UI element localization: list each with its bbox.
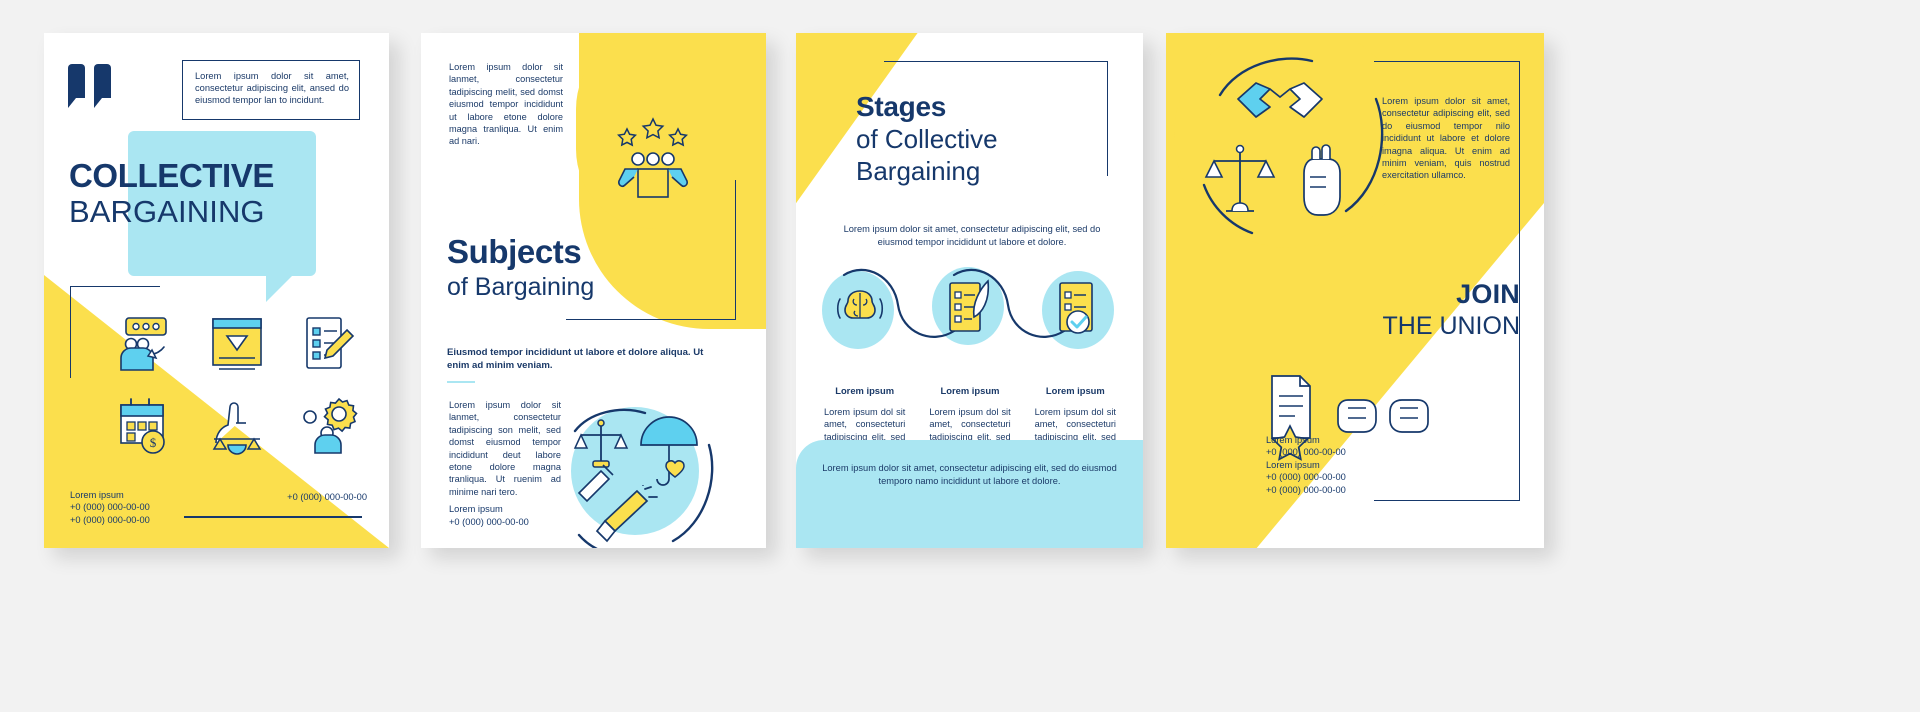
svg-text:$: $ [150, 435, 157, 450]
contact-label-2: Lorem ipsum [1266, 459, 1346, 472]
calendar-money-icon: $ [102, 386, 191, 465]
contact-label: Lorem ipsum [449, 503, 529, 516]
scales-of-justice-icon [1204, 141, 1276, 223]
title-line-2: of Collective [856, 123, 998, 155]
title-line-1: COLLECTIVE [69, 158, 369, 194]
contact-phone-1: +0 (000) 000-00-00 [449, 516, 529, 529]
gear-worker-icon [283, 386, 372, 465]
document-checkmark-icon [1052, 279, 1106, 339]
subheading: Eiusmod tempor incididunt ut labore et d… [447, 347, 719, 373]
body-paragraph: Lorem ipsum dolor sit lanmet, consectetu… [449, 399, 561, 498]
intro-paragraph: Lorem ipsum dolor sit lanmet, consectetu… [449, 61, 563, 148]
raised-fist-icon [1292, 143, 1350, 223]
lead-paragraph: Lorem ipsum dolor sit amet, consectetur … [829, 223, 1115, 248]
page-title: COLLECTIVE BARGAINING [69, 158, 369, 230]
contract-document-icon [193, 305, 282, 384]
contact-phone-2: +0 (000) 000-00-00 [70, 514, 150, 527]
steps-illustration [814, 265, 1126, 355]
hand-scales-icon [193, 386, 282, 465]
contact-phone-2: +0 (000) 000-00-00 [1266, 471, 1346, 484]
join-union-page[interactable]: Lorem ipsum dolor sit amet, consectetur … [1166, 33, 1544, 548]
meeting-people-icon [102, 305, 191, 384]
title-line-2: of Bargaining [447, 271, 594, 303]
document-feather-pen-icon [942, 279, 996, 339]
contact-label-1: Lorem ipsum [1266, 434, 1346, 447]
subjects-page[interactable]: Lorem ipsum dolor sit lanmet, consectetu… [421, 33, 766, 548]
title-line-1: Stages [856, 91, 998, 123]
page-title: JOIN THE UNION [1383, 278, 1521, 342]
step-heading: Lorem ipsum [814, 385, 915, 396]
step-heading: Lorem ipsum [919, 385, 1020, 396]
quotation-mark-icon [68, 64, 112, 98]
accent-divider [447, 381, 475, 383]
fist-bump-icon [1334, 386, 1432, 450]
footer-panel: Lorem ipsum dolor sit amet, consectetur … [796, 440, 1143, 548]
contact-phone-1: +0 (000) 000-00-00 [70, 501, 150, 514]
icon-grid: $ [102, 305, 372, 465]
contact-block: Lorem ipsum +0 (000) 000-00-00 [449, 503, 529, 528]
quote-text: Lorem ipsum dolor sit amet, consectetur … [195, 70, 349, 107]
contact-block: Lorem ipsum +0 (000) 000-00-00 Lorem ips… [1266, 434, 1346, 497]
stages-page[interactable]: Stages of Collective Bargaining Lorem ip… [796, 33, 1143, 548]
step-heading: Lorem ipsum [1025, 385, 1126, 396]
stars-hands-crowd-icon [607, 111, 699, 207]
contact-phone-right: +0 (000) 000-00-00 [287, 492, 367, 502]
page-title: Subjects of Bargaining [447, 233, 594, 303]
cover-page[interactable]: Lorem ipsum dolor sit amet, consectetur … [44, 33, 389, 548]
title-line-3: Bargaining [856, 155, 998, 187]
contact-block: Lorem ipsum +0 (000) 000-00-00 +0 (000) … [70, 489, 150, 527]
quote-text-box: Lorem ipsum dolor sit amet, consectetur … [182, 60, 360, 120]
title-line-1: Subjects [447, 233, 594, 271]
checklist-pencil-icon [283, 305, 372, 384]
handshake-icon [1230, 69, 1330, 131]
footer-rule [184, 516, 362, 518]
title-line-1: JOIN [1383, 278, 1521, 310]
body-paragraph: Lorem ipsum dolor sit amet, consectetur … [1382, 95, 1510, 182]
megaphone-icon [591, 485, 663, 547]
footer-text: Lorem ipsum dolor sit amet, consectetur … [820, 462, 1119, 487]
brochure-template-stage: Lorem ipsum dolor sit amet, consectetur … [0, 0, 1920, 712]
contact-phone-3: +0 (000) 000-00-00 [1266, 484, 1346, 497]
title-line-2: BARGAINING [69, 194, 369, 230]
title-line-2: THE UNION [1383, 310, 1521, 342]
page-title: Stages of Collective Bargaining [856, 91, 998, 187]
contact-phone-1: +0 (000) 000-00-00 [1266, 446, 1346, 459]
brain-thinking-icon [834, 283, 886, 335]
contact-label: Lorem ipsum [70, 489, 150, 502]
umbrella-heart-icon [637, 411, 701, 493]
